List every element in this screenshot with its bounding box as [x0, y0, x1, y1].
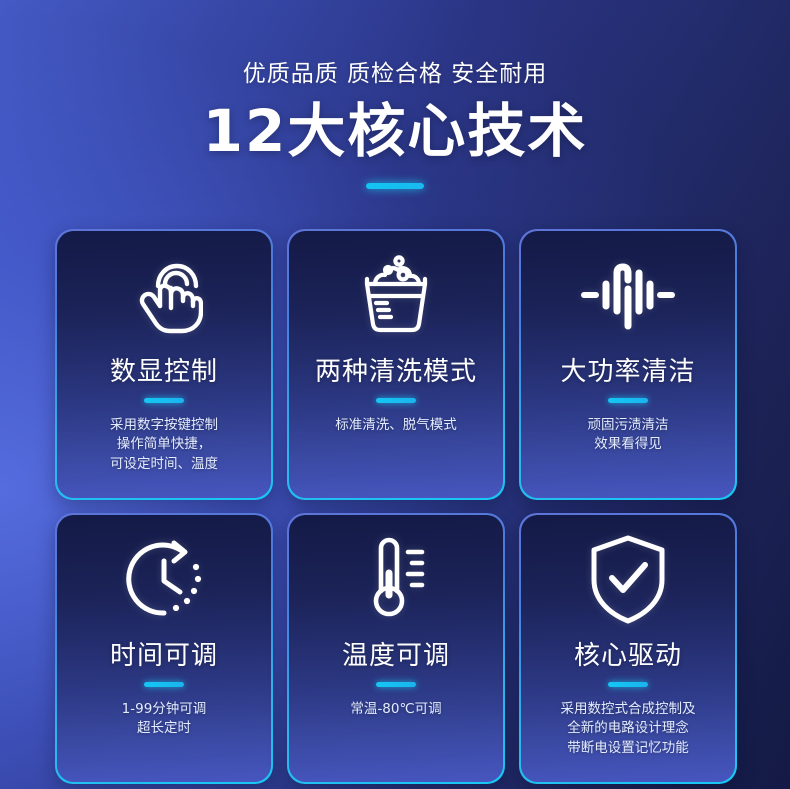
- feature-card[interactable]: 温度可调 常温-80℃可调: [287, 513, 505, 784]
- page-title: 12大核心技术: [0, 100, 790, 163]
- desc-line: 标准清洗、脱气模式: [335, 416, 457, 436]
- clock-arrow-icon: [57, 515, 272, 643]
- desc-line: 带断电设置记忆功能: [561, 739, 696, 759]
- card-divider: [608, 682, 648, 687]
- promo-page: 优质品质 质检合格 安全耐用 12大核心技术 数显控制: [0, 0, 790, 789]
- card-divider: [376, 682, 416, 687]
- card-title: 数显控制: [110, 359, 218, 385]
- card-divider: [376, 398, 416, 403]
- card-title: 大功率清洁: [560, 359, 695, 385]
- desc-line: 顽固污渍清洁: [588, 416, 669, 436]
- feature-card[interactable]: 数显控制 采用数字按键控制 操作简单快捷， 可设定时间、温度: [55, 229, 273, 500]
- header-subtitle: 优质品质 质检合格 安全耐用: [0, 54, 790, 88]
- desc-line: 常温-80℃可调: [350, 700, 441, 720]
- card-divider: [144, 682, 184, 687]
- card-description: 采用数控式合成控制及 全新的电路设计理念 带断电设置记忆功能: [551, 700, 706, 759]
- desc-line: 采用数字按键控制: [110, 416, 218, 436]
- shield-check-icon: [521, 515, 736, 643]
- card-description: 常温-80℃可调: [340, 700, 451, 720]
- card-title: 核心驱动: [574, 643, 682, 669]
- feature-card[interactable]: 核心驱动 采用数控式合成控制及 全新的电路设计理念 带断电设置记忆功能: [519, 513, 737, 784]
- card-divider: [144, 398, 184, 403]
- card-title: 温度可调: [342, 643, 450, 669]
- sound-wave-icon: [521, 231, 736, 359]
- card-description: 顽固污渍清洁 效果看得见: [578, 416, 679, 455]
- card-description: 采用数字按键控制 操作简单快捷， 可设定时间、温度: [100, 416, 228, 475]
- feature-card[interactable]: 大功率清洁 顽固污渍清洁 效果看得见: [519, 229, 737, 500]
- desc-line: 效果看得见: [588, 435, 669, 455]
- card-title: 时间可调: [110, 643, 218, 669]
- card-divider: [608, 398, 648, 403]
- wash-basin-bubbles-icon: [289, 231, 504, 359]
- card-description: 标准清洗、脱气模式: [325, 416, 467, 436]
- desc-line: 全新的电路设计理念: [561, 719, 696, 739]
- hand-tap-icon: [57, 231, 272, 359]
- desc-line: 可设定时间、温度: [110, 455, 218, 475]
- desc-line: 采用数控式合成控制及: [561, 700, 696, 720]
- thermometer-icon: [289, 515, 504, 643]
- desc-line: 超长定时: [122, 719, 207, 739]
- feature-card-grid: 数显控制 采用数字按键控制 操作简单快捷， 可设定时间、温度: [55, 229, 737, 784]
- header-accent-rule: [366, 183, 424, 189]
- desc-line: 操作简单快捷，: [110, 435, 218, 455]
- desc-line: 1-99分钟可调: [122, 700, 207, 720]
- feature-card[interactable]: 时间可调 1-99分钟可调 超长定时: [55, 513, 273, 784]
- card-title: 两种清洗模式: [315, 359, 477, 385]
- page-header: 优质品质 质检合格 安全耐用 12大核心技术: [0, 0, 790, 189]
- feature-card[interactable]: 两种清洗模式 标准清洗、脱气模式: [287, 229, 505, 500]
- card-description: 1-99分钟可调 超长定时: [112, 700, 217, 739]
